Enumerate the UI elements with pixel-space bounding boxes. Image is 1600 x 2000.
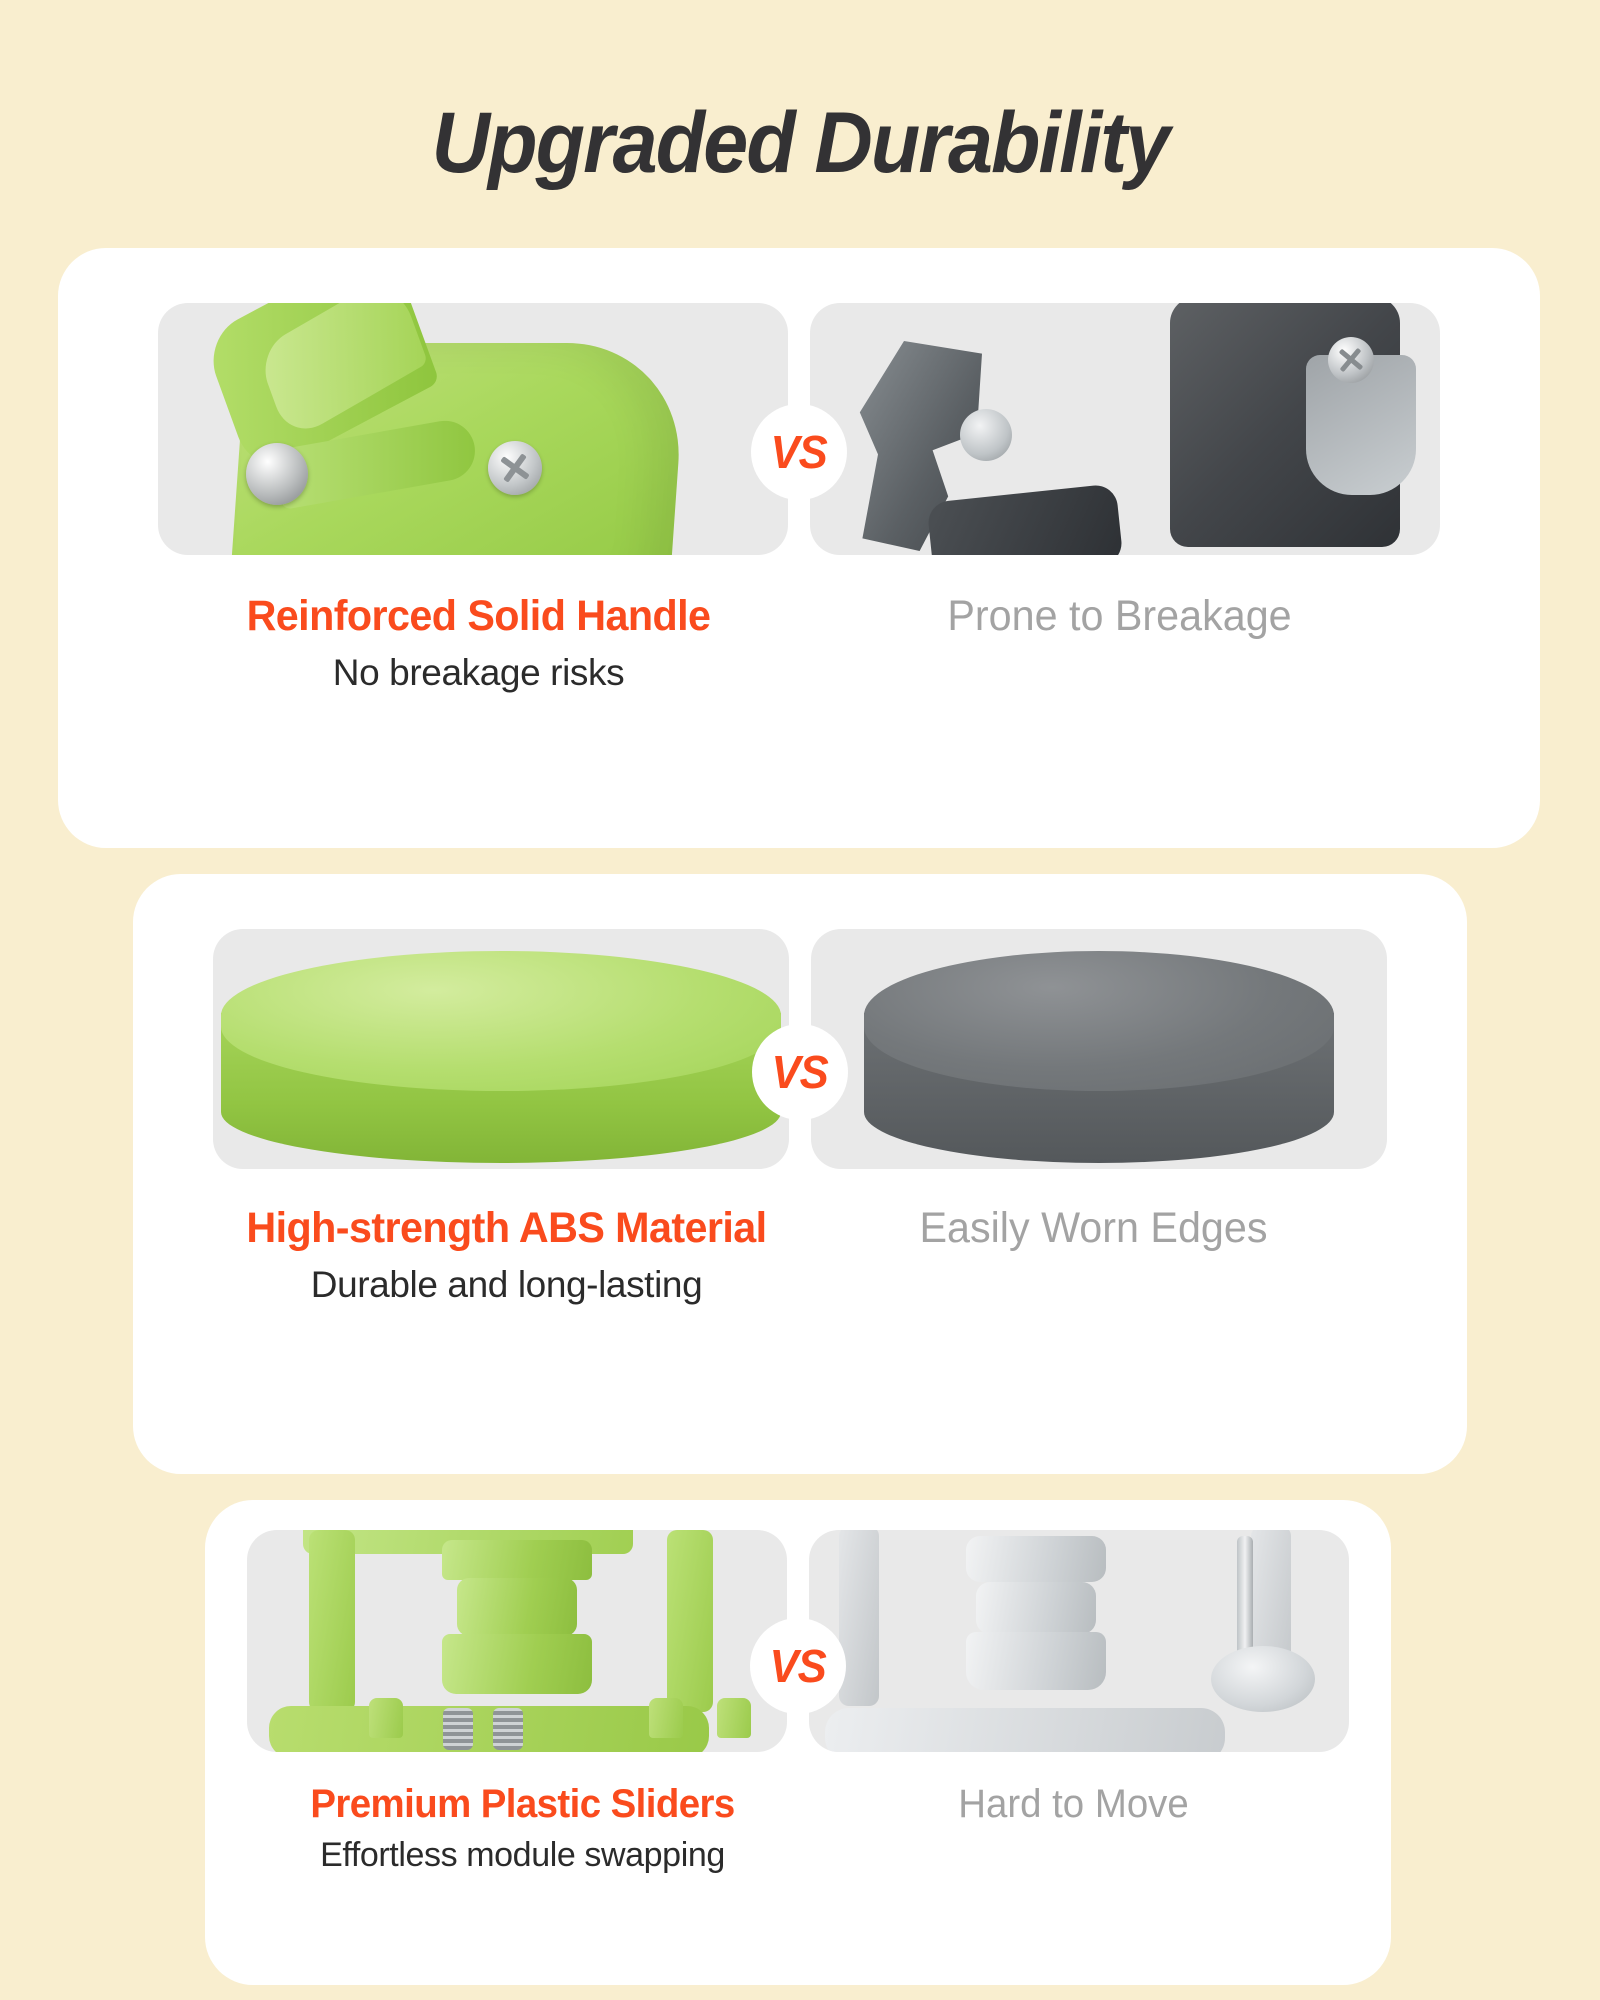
product-image-green-plastic-slider-module-photo [247, 1530, 787, 1752]
competitor-hub-upper-shape [966, 1536, 1106, 1582]
competitor-wheel-shape [1211, 1646, 1315, 1712]
competitor-drawback-title: Prone to Breakage [812, 593, 1427, 640]
product-caption: Reinforced Solid Handle No breakage risk… [158, 593, 799, 695]
competitor-base-shape [926, 483, 1123, 555]
product-feature-title: Reinforced Solid Handle [171, 593, 786, 640]
image-pair-row: VS [205, 1500, 1391, 1752]
disc-top-surface [864, 951, 1334, 1091]
pane-divider [789, 874, 811, 1169]
page-title: Upgraded Durability [48, 0, 1552, 186]
caption-row: High-strength ABS Material Durable and l… [133, 1205, 1467, 1307]
screw-icon [1328, 337, 1374, 383]
competitor-image-dark-gray-broken-handle-clamp-photo [810, 303, 1440, 555]
comparison-card-handle: VS Reinforced Solid Handle No breakage r… [58, 248, 1540, 848]
product-image-green-reinforced-handle-clamp-photo [158, 303, 788, 555]
module-hub-upper-shape [442, 1540, 592, 1580]
competitor-image-gray-worn-disc-closeup-photo [811, 929, 1387, 1169]
green-disc-shape [221, 951, 781, 1169]
product-feature-title: Premium Plastic Sliders [258, 1782, 787, 1826]
slider-knob-left-shape [369, 1698, 403, 1738]
disc-top-surface [221, 951, 781, 1091]
competitor-drawback-title: Easily Worn Edges [812, 1205, 1376, 1252]
competitor-roller-shape [960, 409, 1012, 461]
product-image-green-abs-disc-closeup-photo [213, 929, 789, 1169]
module-base-plate-shape [269, 1706, 709, 1752]
product-feature-subtitle: No breakage risks [158, 652, 799, 695]
caption-row: Premium Plastic Sliders Effortless modul… [205, 1782, 1391, 1875]
image-pair-row: VS [58, 248, 1540, 555]
product-caption: Premium Plastic Sliders Effortless modul… [247, 1782, 798, 1875]
pane-divider [788, 248, 810, 555]
competitor-caption: Easily Worn Edges [800, 1205, 1387, 1307]
comparison-card-sliders: VS Premium Plastic Sliders Effortless mo… [205, 1500, 1391, 1985]
comparison-card-list: VS Reinforced Solid Handle No breakage r… [0, 248, 1600, 1985]
competitor-image-gray-metal-slider-module-photo [809, 1530, 1349, 1752]
slider-knob-right-shape [649, 1698, 683, 1738]
screw-icon [488, 441, 542, 495]
vs-badge-label: VS [770, 1639, 826, 1693]
gray-disc-shape [864, 951, 1334, 1169]
product-feature-subtitle: Durable and long-lasting [213, 1264, 800, 1307]
image-pair-row: VS [133, 874, 1467, 1169]
product-feature-subtitle: Effortless module swapping [247, 1836, 798, 1875]
competitor-caption: Prone to Breakage [799, 593, 1440, 695]
metal-pin-icon [246, 443, 308, 505]
vs-badge-label: VS [772, 1045, 828, 1099]
vs-badge: VS [751, 404, 847, 500]
competitor-caption: Hard to Move [798, 1782, 1349, 1875]
module-hub-lower-shape [442, 1634, 592, 1694]
vs-badge: VS [752, 1024, 848, 1120]
caption-row: Reinforced Solid Handle No breakage risk… [58, 593, 1540, 695]
competitor-left-post-shape [839, 1530, 879, 1706]
competitor-hub-middle-shape [976, 1582, 1096, 1634]
spring-center-shape [493, 1708, 523, 1750]
vs-badge: VS [750, 1618, 846, 1714]
spring-left-shape [443, 1708, 473, 1750]
module-left-post-shape [309, 1530, 355, 1712]
comparison-card-material: VS High-strength ABS Material Durable an… [133, 874, 1467, 1474]
module-hub-middle-shape [457, 1578, 577, 1636]
product-caption: High-strength ABS Material Durable and l… [213, 1205, 800, 1307]
module-right-post-shape [667, 1530, 713, 1712]
competitor-hub-lower-shape [966, 1632, 1106, 1690]
vs-badge-label: VS [771, 425, 827, 479]
competitor-base-plate-shape [825, 1708, 1225, 1752]
product-feature-title: High-strength ABS Material [225, 1205, 789, 1252]
competitor-drawback-title: Hard to Move [809, 1782, 1338, 1826]
slider-knob-far-right-shape [717, 1698, 751, 1738]
